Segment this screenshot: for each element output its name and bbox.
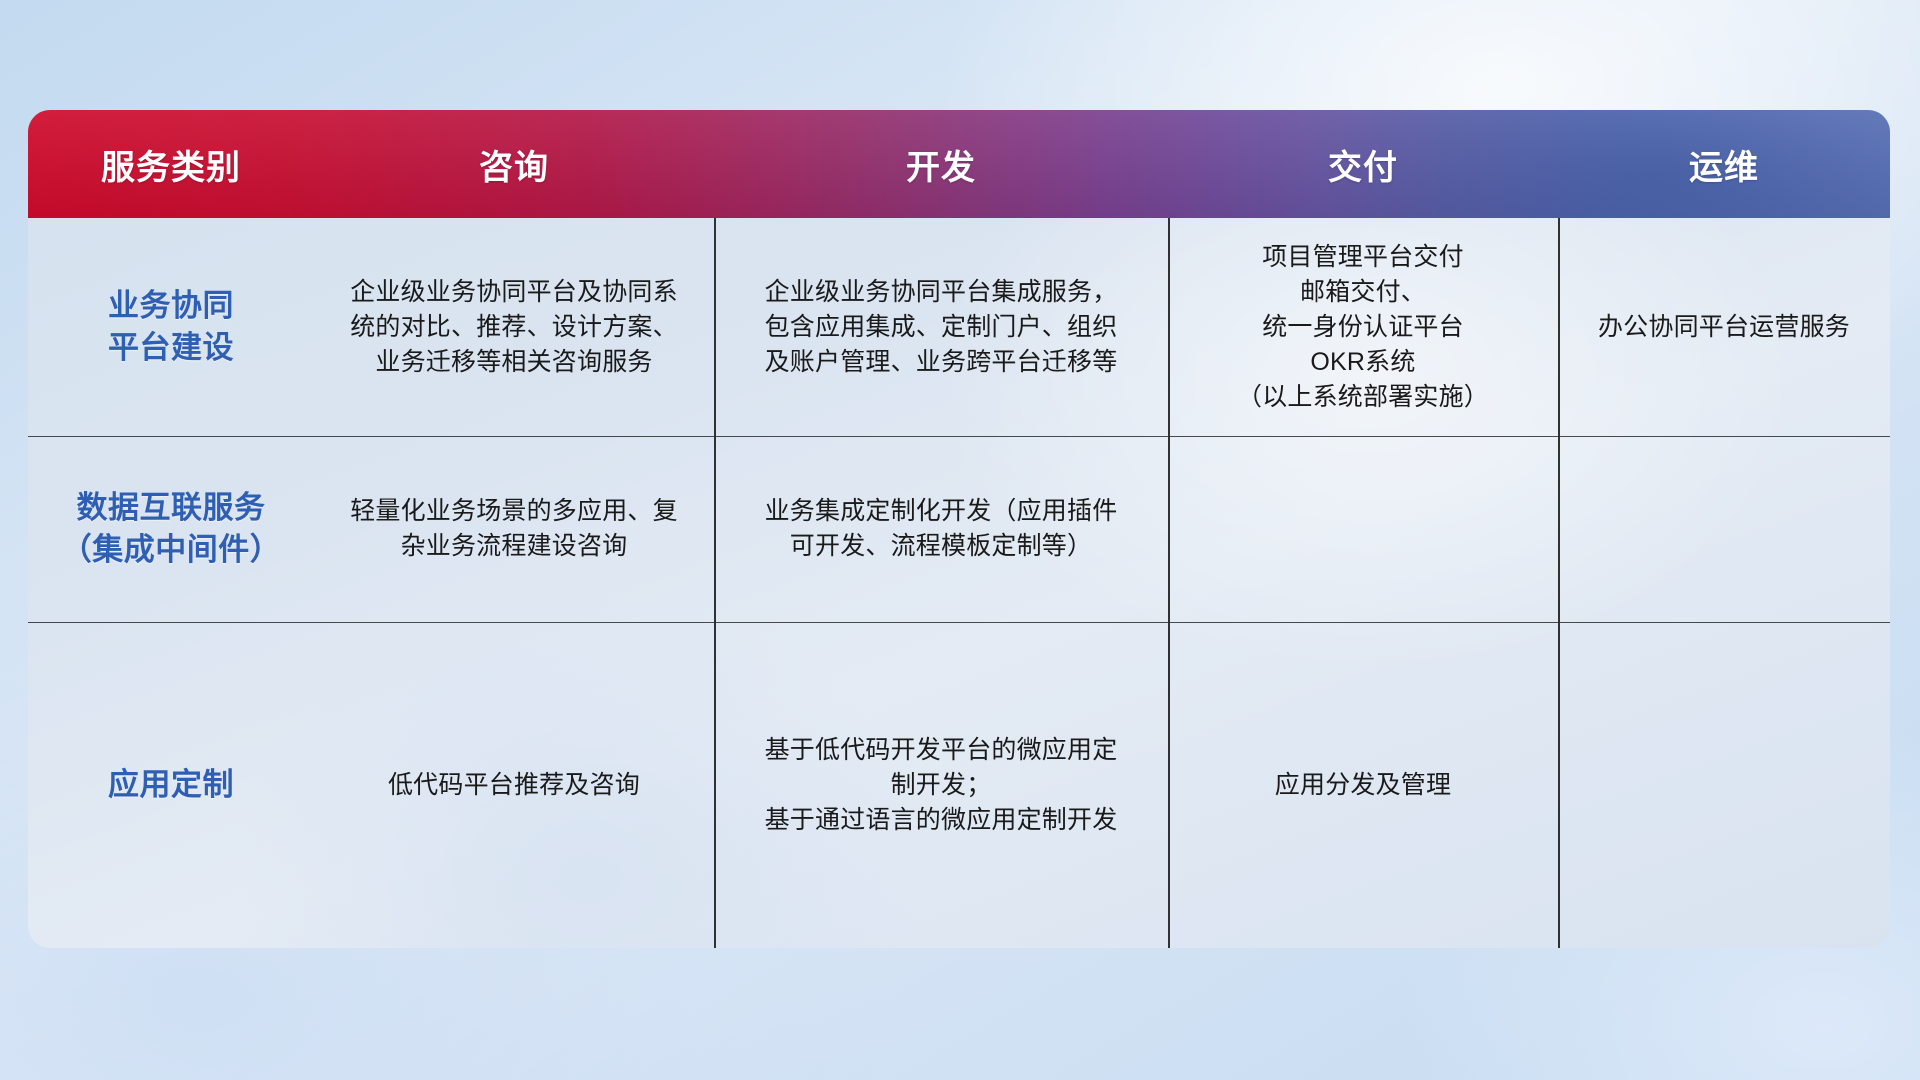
table-body: 业务协同 平台建设 企业级业务协同平台及协同系 统的对比、推荐、设计方案、 业务… — [28, 218, 1890, 948]
service-matrix-table: 服务类别 咨询 开发 交付 运维 业务协同 平台建设 企业级业务协同平台及协同系… — [28, 110, 1890, 948]
cell-text: 低代码平台推荐及咨询 — [388, 768, 640, 803]
cell-operations: 办公协同平台运营服务 — [1558, 218, 1890, 436]
cell-consulting: 轻量化业务场景的多应用、复 杂业务流程建设咨询 — [314, 436, 714, 622]
cell-consulting: 企业级业务协同平台及协同系 统的对比、推荐、设计方案、 业务迁移等相关咨询服务 — [314, 218, 714, 436]
category-text: 业务协同 平台建设 — [108, 285, 234, 368]
table-row: 应用定制 低代码平台推荐及咨询 基于低代码开发平台的微应用定 制开发； 基于通过… — [28, 622, 1890, 948]
cell-text: 办公协同平台运营服务 — [1598, 310, 1850, 345]
cell-text: 业务集成定制化开发（应用插件 可开发、流程模板定制等） — [765, 494, 1118, 564]
cell-text: 基于低代码开发平台的微应用定 制开发； 基于通过语言的微应用定制开发 — [765, 733, 1118, 838]
cell-operations — [1558, 622, 1890, 948]
cell-development: 业务集成定制化开发（应用插件 可开发、流程模板定制等） — [714, 436, 1168, 622]
column-header-operations: 运维 — [1558, 140, 1890, 189]
row-category-label: 业务协同 平台建设 — [28, 218, 314, 436]
table-row: 数据互联服务 （集成中间件） 轻量化业务场景的多应用、复 杂业务流程建设咨询 业… — [28, 436, 1890, 622]
category-text: 数据互联服务 （集成中间件） — [61, 487, 282, 570]
column-header-delivery: 交付 — [1168, 140, 1558, 189]
column-header-consulting: 咨询 — [314, 140, 714, 189]
table-header-row: 服务类别 咨询 开发 交付 运维 — [28, 110, 1890, 218]
cell-text: 企业级业务协同平台及协同系 统的对比、推荐、设计方案、 业务迁移等相关咨询服务 — [350, 275, 678, 380]
cell-delivery: 应用分发及管理 — [1168, 622, 1558, 948]
cell-text: 轻量化业务场景的多应用、复 杂业务流程建设咨询 — [350, 494, 678, 564]
category-text: 应用定制 — [108, 764, 234, 806]
column-header-development: 开发 — [714, 140, 1168, 189]
cell-consulting: 低代码平台推荐及咨询 — [314, 622, 714, 948]
column-header-category: 服务类别 — [28, 140, 314, 189]
table-row: 业务协同 平台建设 企业级业务协同平台及协同系 统的对比、推荐、设计方案、 业务… — [28, 218, 1890, 436]
row-category-label: 数据互联服务 （集成中间件） — [28, 436, 314, 622]
cell-delivery — [1168, 436, 1558, 622]
cell-text: 企业级业务协同平台集成服务， 包含应用集成、定制门户、组织 及账户管理、业务跨平… — [765, 275, 1118, 380]
cell-development: 基于低代码开发平台的微应用定 制开发； 基于通过语言的微应用定制开发 — [714, 622, 1168, 948]
cell-delivery: 项目管理平台交付 邮箱交付、 统一身份认证平台 OKR系统 （以上系统部署实施） — [1168, 218, 1558, 436]
cell-text: 项目管理平台交付 邮箱交付、 统一身份认证平台 OKR系统 （以上系统部署实施） — [1237, 240, 1489, 415]
cell-text: 应用分发及管理 — [1275, 768, 1451, 803]
cell-development: 企业级业务协同平台集成服务， 包含应用集成、定制门户、组织 及账户管理、业务跨平… — [714, 218, 1168, 436]
row-category-label: 应用定制 — [28, 622, 314, 948]
cell-operations — [1558, 436, 1890, 622]
